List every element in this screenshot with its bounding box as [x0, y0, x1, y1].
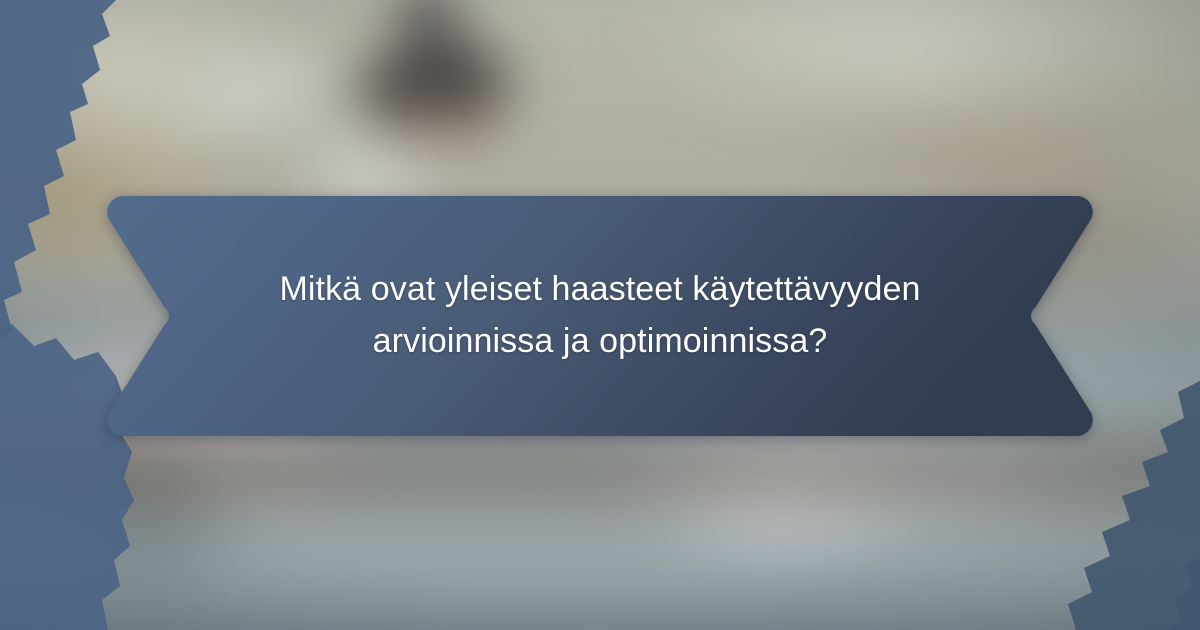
- ribbon-shape: [107, 196, 1093, 436]
- title-ribbon: Mitkä ovat yleiset haasteet käytettävyyd…: [107, 196, 1093, 436]
- share-card: Mitkä ovat yleiset haasteet käytettävyyd…: [0, 0, 1200, 630]
